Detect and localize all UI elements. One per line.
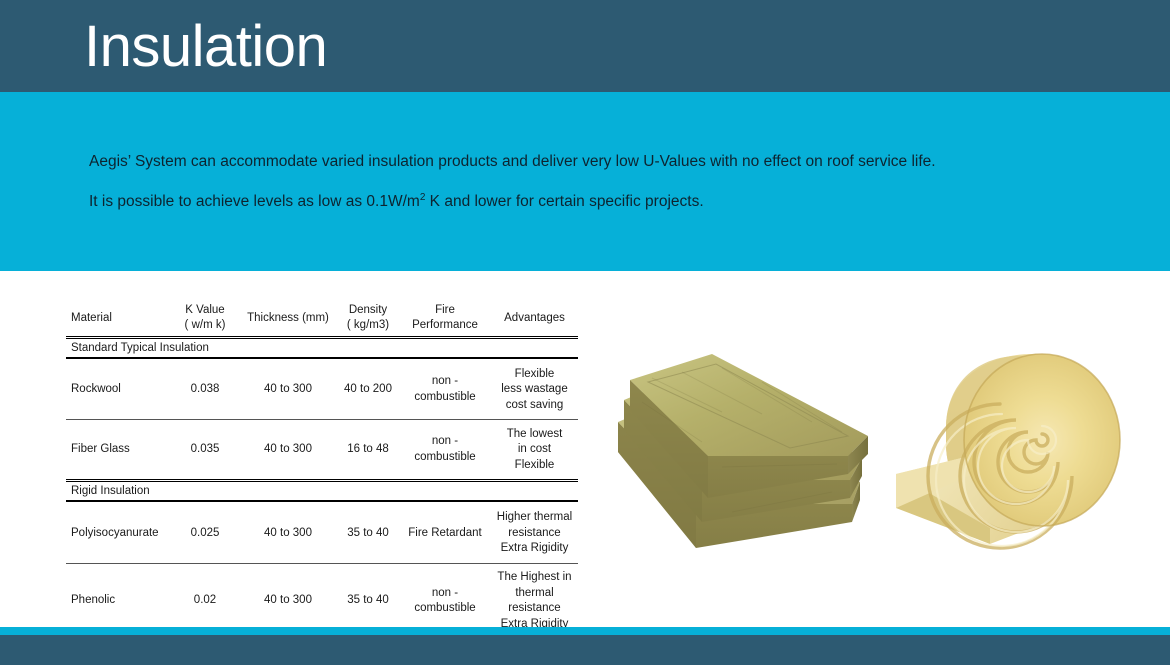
col-header-density: Density ( kg/m3) — [337, 303, 399, 333]
insulation-spec-table: Material K Value ( w/m k) Thickness (mm)… — [66, 303, 578, 638]
cell-density: 16 to 48 — [337, 421, 399, 481]
footer-accent-strip — [0, 627, 1170, 635]
cell-fire-performance: Fire Retardant — [399, 504, 491, 563]
slide-insulation: Insulation Aegis’ System can accommodate… — [0, 0, 1170, 665]
body-line-2: It is possible to achieve levels as low … — [89, 182, 1119, 222]
section-row-standard-typical-insulation: Standard Typical Insulation — [66, 337, 578, 358]
col-header-thickness: Thickness (mm) — [239, 303, 337, 333]
col-header-material: Material — [66, 303, 171, 333]
glass-wool-roll-photo — [882, 332, 1164, 572]
cell-k-value: 0.038 — [171, 361, 239, 420]
cell-density: 40 to 200 — [337, 361, 399, 420]
rockwool-slab-stack-photo — [612, 352, 904, 567]
body-line-2-pre: It is possible to achieve levels as low … — [89, 193, 420, 210]
cell-density: 35 to 40 — [337, 504, 399, 563]
table-row: Fiber Glass 0.035 40 to 300 16 to 48 non… — [66, 421, 578, 481]
body-text-block: Aegis’ System can accommodate varied ins… — [89, 142, 1119, 222]
cell-k-value: 0.025 — [171, 504, 239, 563]
page-title: Insulation — [84, 14, 327, 80]
cell-thickness: 40 to 300 — [239, 421, 337, 481]
cell-k-value: 0.035 — [171, 421, 239, 481]
cell-thickness: 40 to 300 — [239, 361, 337, 420]
cell-advantages: Higher thermal resistance Extra Rigidity — [491, 504, 578, 563]
body-line-1: Aegis’ System can accommodate varied ins… — [89, 142, 1119, 182]
col-header-k-value: K Value ( w/m k) — [171, 303, 239, 333]
cell-material: Rockwool — [66, 361, 171, 420]
body-line-2-post: K and lower for certain specific project… — [425, 193, 703, 210]
cell-thickness: 40 to 300 — [239, 504, 337, 563]
cell-advantages: Flexible less wastage cost saving — [491, 361, 578, 420]
section-label: Rigid Insulation — [66, 481, 578, 502]
cell-fire-performance: non - combustible — [399, 361, 491, 420]
table-row: Polyisocyanurate 0.025 40 to 300 35 to 4… — [66, 504, 578, 563]
section-row-rigid-insulation: Rigid Insulation — [66, 481, 578, 502]
table-row: Rockwool 0.038 40 to 300 40 to 200 non -… — [66, 361, 578, 420]
section-label: Standard Typical Insulation — [66, 337, 578, 358]
col-header-fire-performance: Fire Performance — [399, 303, 491, 333]
cell-advantages: The lowest in cost Flexible — [491, 421, 578, 481]
cell-material: Fiber Glass — [66, 421, 171, 481]
cell-material: Polyisocyanurate — [66, 504, 171, 563]
table-header-row: Material K Value ( w/m k) Thickness (mm)… — [66, 303, 578, 333]
cell-fire-performance: non - combustible — [399, 421, 491, 481]
col-header-advantages: Advantages — [491, 303, 578, 333]
footer-band — [0, 635, 1170, 665]
